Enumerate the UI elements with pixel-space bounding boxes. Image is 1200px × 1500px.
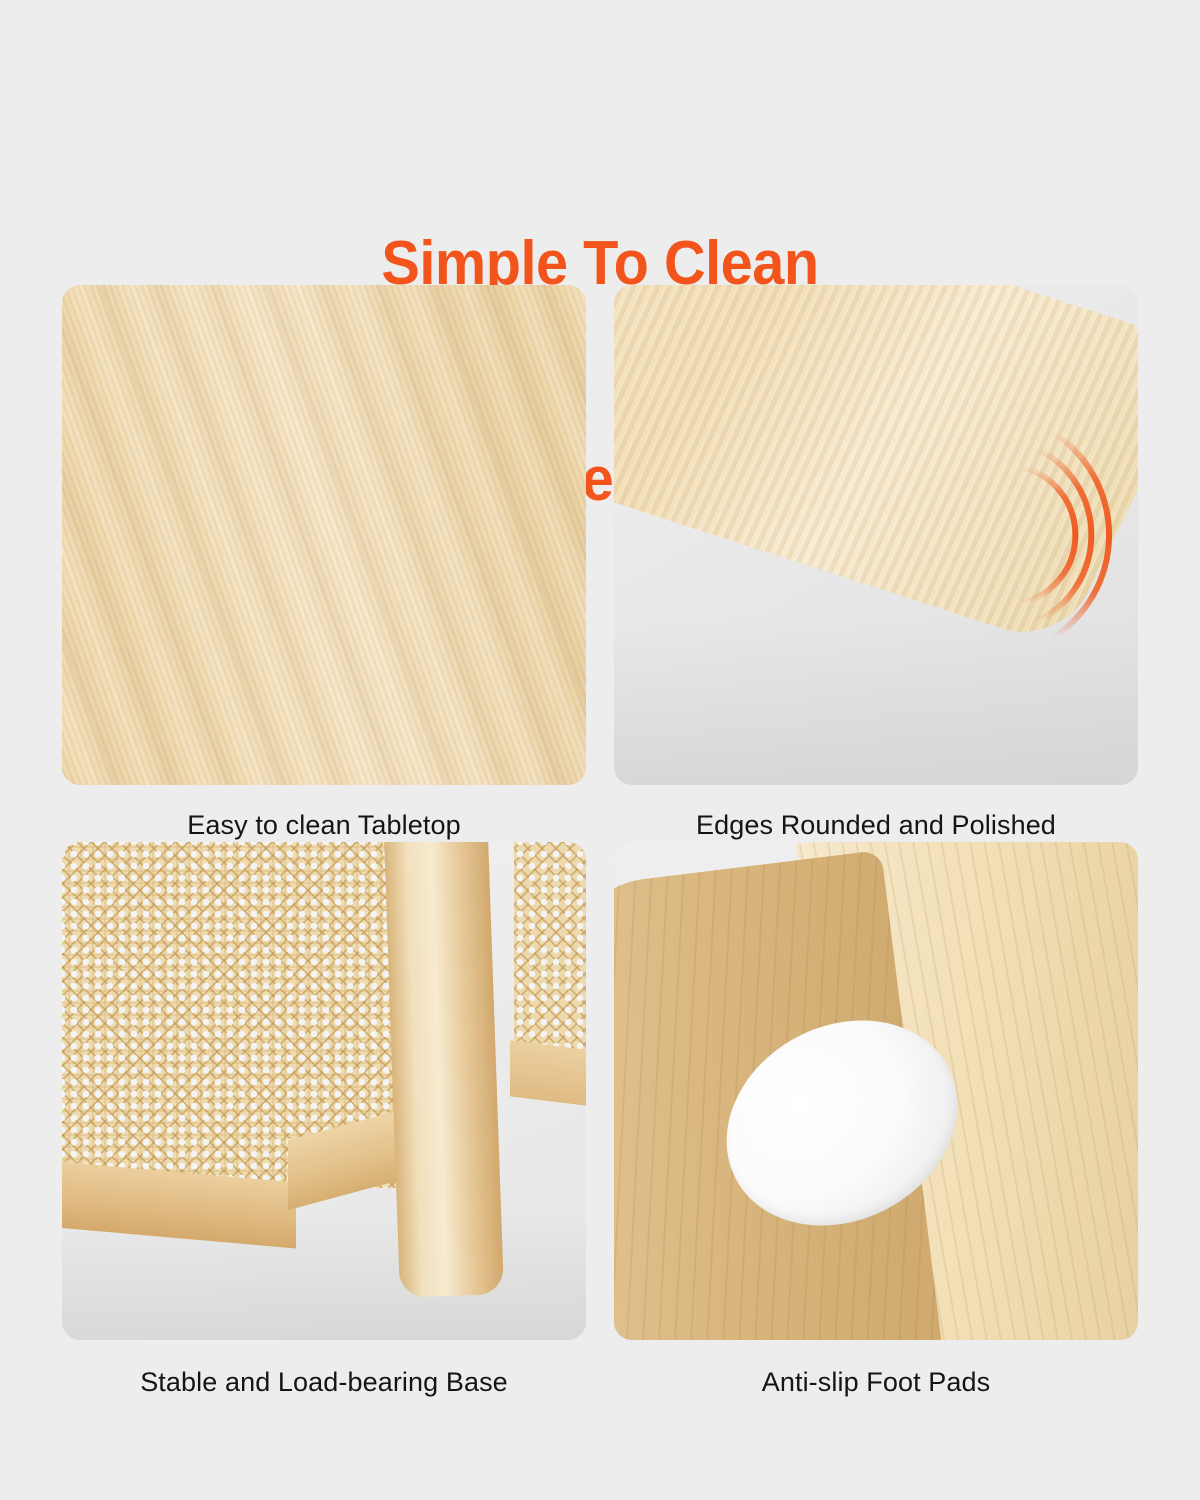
base-rattan-panel-right — [514, 842, 586, 1050]
base-wooden-leg — [384, 842, 504, 1298]
feature-image-foot-pads — [614, 842, 1138, 1340]
base-rail-right — [510, 1040, 586, 1107]
feature-card-tabletop: Easy to clean Tabletop — [62, 285, 586, 842]
feature-grid: Easy to clean Tabletop — [62, 285, 1138, 1399]
feature-caption-base: Stable and Load-bearing Base — [62, 1365, 586, 1399]
feature-image-tabletop — [62, 285, 586, 785]
feature-caption-edges: Edges Rounded and Polished — [614, 808, 1138, 842]
feature-image-base — [62, 842, 586, 1340]
feature-caption-tabletop: Easy to clean Tabletop — [62, 808, 586, 842]
feature-card-edges: Edges Rounded and Polished — [614, 285, 1138, 842]
sound-wave-icon — [1004, 415, 1124, 660]
feature-card-foot-pads: Anti-slip Foot Pads — [614, 842, 1138, 1399]
tabletop-wood-surface — [62, 285, 586, 785]
feature-image-edges — [614, 285, 1138, 785]
feature-card-base: Stable and Load-bearing Base — [62, 842, 586, 1399]
feature-caption-foot-pads: Anti-slip Foot Pads — [614, 1365, 1138, 1399]
